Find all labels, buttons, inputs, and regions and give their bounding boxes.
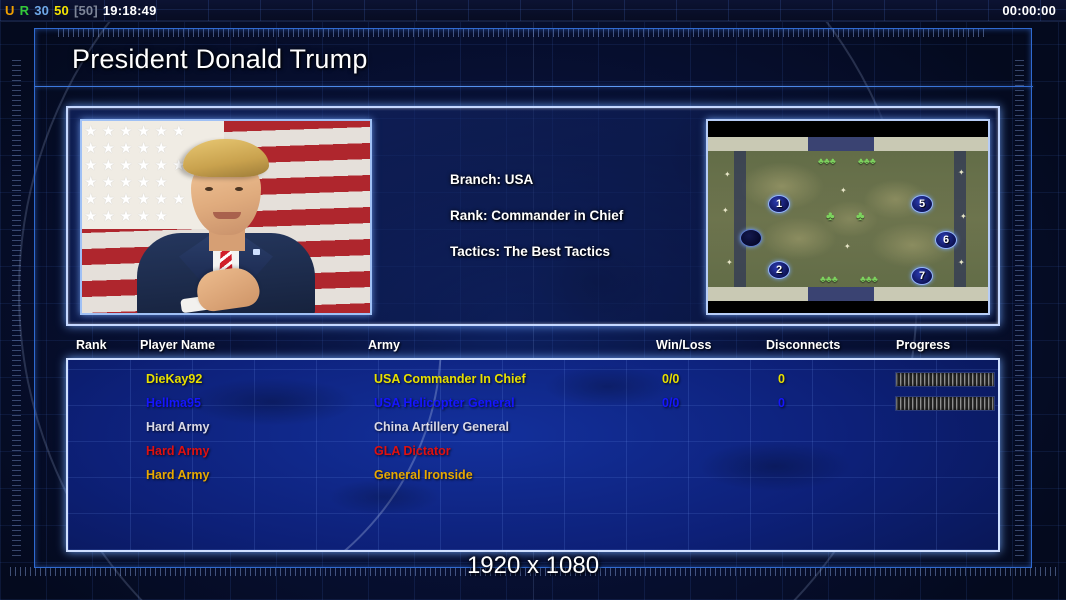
roster-row[interactable]: Hellma95USA Helicopter General0/00 (68, 392, 998, 416)
info-tactics: Tactics: The Best Tactics (450, 244, 623, 259)
cell-army: China Artillery General (374, 420, 509, 434)
player-info-panel: Branch: USA Rank: Commander in Chief Tac… (66, 106, 1000, 326)
figure-eye-left (205, 187, 213, 191)
map-start-position-1[interactable]: 1 (768, 195, 790, 213)
power-value: 30 (34, 3, 49, 18)
cell-player-name: Hard Army (146, 444, 209, 458)
roster-row[interactable]: Hard ArmyGLA Dictator (68, 440, 998, 464)
hud-resources: UR 30 50 [50] 19:18:49 (0, 3, 157, 18)
cell-player-name: Hard Army (146, 420, 209, 434)
map-prop: ✦ (840, 187, 847, 195)
figure-mouth (213, 212, 241, 219)
page-title: President Donald Trump (72, 44, 368, 75)
game-lobby-screen: UR 30 50 [50] 19:18:49 00:00:00 Presiden… (0, 0, 1066, 600)
cell-player-name: DieKay92 (146, 372, 202, 386)
map-prop: ✦ (726, 259, 733, 267)
progress-bar (895, 396, 995, 411)
figure-lapel-pin (253, 249, 260, 255)
info-rank: Rank: Commander in Chief (450, 208, 623, 223)
cell-player-name: Hard Army (146, 468, 209, 482)
map-trees: ♣♣♣ (858, 157, 876, 166)
resource-r-label: R (20, 3, 30, 18)
progress-bar (895, 372, 995, 387)
roster-panel: DieKay92USA Commander In Chief0/00Hellma… (66, 358, 1000, 552)
map-trees: ♣ (826, 211, 835, 220)
player-info-lines: Branch: USA Rank: Commander in Chief Tac… (450, 172, 623, 280)
column-header-rank[interactable]: Rank (76, 338, 107, 352)
map-start-position-7[interactable]: 7 (911, 267, 933, 285)
money-cap-value: [50] (74, 3, 98, 18)
resolution-label: 1920 x 1080 (0, 552, 1066, 580)
map-trees: ♣♣♣ (818, 157, 836, 166)
column-header-disconnects[interactable]: Disconnects (766, 338, 840, 352)
column-header-progress[interactable]: Progress (896, 338, 950, 352)
map-start-position-6[interactable]: 6 (935, 231, 957, 249)
cell-army: GLA Dictator (374, 444, 451, 458)
map-start-position-5[interactable]: 5 (911, 195, 933, 213)
figure-hair (183, 139, 269, 177)
roster-row[interactable]: DieKay92USA Commander In Chief0/00 (68, 368, 998, 392)
map-start-position-empty[interactable] (740, 229, 762, 247)
cell-win-loss: 0/0 (662, 372, 679, 386)
map-prop: ✦ (724, 171, 731, 179)
match-timer: 00:00:00 (1002, 3, 1066, 18)
map-start-position-2[interactable]: 2 (768, 261, 790, 279)
map-road-left (734, 137, 746, 301)
roster-row[interactable]: Hard ArmyGeneral Ironside (68, 464, 998, 488)
top-hud-bar: UR 30 50 [50] 19:18:49 00:00:00 (0, 0, 1066, 22)
column-header-army[interactable]: Army (368, 338, 400, 352)
map-terrain: ♣♣♣ ♣♣♣ ♣♣♣ ♣♣♣ ♣ ♣ ✦ ✦ ✦ ✦ ✦ ✦ ✦ ✦ 1256… (708, 137, 990, 301)
cell-army: General Ironside (374, 468, 473, 482)
map-band-bottom (708, 287, 990, 301)
roster-row[interactable]: Hard ArmyChina Artillery General (68, 416, 998, 440)
figure-eye-right (235, 187, 243, 191)
map-trees: ♣ (856, 211, 865, 220)
roster-column-headers: RankPlayer NameArmyWin/LossDisconnectsPr… (66, 338, 1000, 356)
cell-player-name: Hellma95 (146, 396, 201, 410)
ruler-left (12, 56, 21, 556)
column-header-player-name[interactable]: Player Name (140, 338, 215, 352)
map-prop: ✦ (958, 259, 965, 267)
portrait-image (80, 119, 372, 315)
resource-u-label: U (5, 3, 15, 18)
map-trees: ♣♣♣ (860, 275, 878, 284)
title-divider (35, 86, 1033, 87)
column-header-win-loss[interactable]: Win/Loss (656, 338, 711, 352)
cell-disconnects: 0 (778, 396, 785, 410)
map-band-gap-bottom (808, 287, 874, 301)
map-band-gap-top (808, 137, 874, 151)
map-band-top (708, 137, 990, 151)
money-value: 50 (54, 3, 69, 18)
cell-army: USA Helicopter General (374, 396, 515, 410)
map-prop: ✦ (960, 213, 967, 221)
session-clock: 19:18:49 (103, 3, 157, 18)
map-prop: ✦ (958, 169, 965, 177)
cell-disconnects: 0 (778, 372, 785, 386)
map-trees: ♣♣♣ (820, 275, 838, 284)
map-prop: ✦ (722, 207, 729, 215)
cell-army: USA Commander In Chief (374, 372, 526, 386)
map-preview[interactable]: ♣♣♣ ♣♣♣ ♣♣♣ ♣♣♣ ♣ ♣ ✦ ✦ ✦ ✦ ✦ ✦ ✦ ✦ 1256… (706, 119, 990, 315)
president-figure (121, 137, 331, 313)
cell-win-loss: 0/0 (662, 396, 679, 410)
map-prop: ✦ (844, 243, 851, 251)
info-branch: Branch: USA (450, 172, 623, 187)
